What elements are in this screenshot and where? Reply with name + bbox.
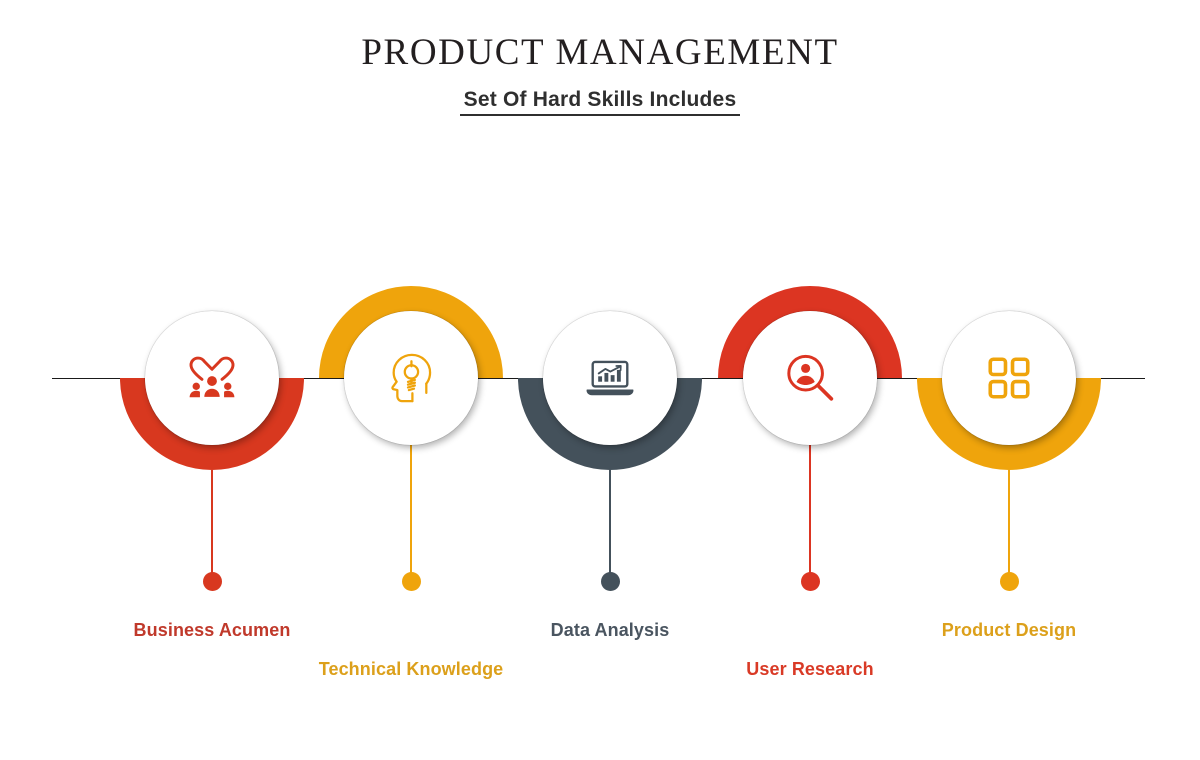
connector-line-business-acumen	[211, 470, 213, 581]
connector-line-product-design	[1008, 470, 1010, 581]
node-product-design[interactable]	[917, 286, 1101, 470]
person-magnifier-icon	[781, 349, 839, 407]
node-disc-business-acumen[interactable]	[145, 311, 279, 445]
node-label-product-design: Product Design	[942, 620, 1076, 641]
page-title: PRODUCT MANAGEMENT	[0, 31, 1200, 74]
node-disc-product-design[interactable]	[942, 311, 1076, 445]
node-label-user-research: User Research	[746, 659, 873, 680]
head-lightbulb-icon	[382, 349, 440, 407]
node-data-analysis[interactable]	[518, 286, 702, 470]
node-disc-technical-knowledge[interactable]	[344, 311, 478, 445]
page-subtitle: Set Of Hard Skills Includes	[460, 88, 741, 116]
laptop-chart-icon	[581, 349, 639, 407]
connector-dot-user-research	[801, 572, 820, 591]
connector-dot-technical-knowledge	[402, 572, 421, 591]
subtitle-container: Set Of Hard Skills Includes	[0, 88, 1200, 116]
node-label-data-analysis: Data Analysis	[551, 620, 670, 641]
node-label-business-acumen: Business Acumen	[134, 620, 291, 641]
team-heart-icon	[183, 349, 241, 407]
node-label-technical-knowledge: Technical Knowledge	[319, 659, 504, 680]
node-disc-user-research[interactable]	[743, 311, 877, 445]
node-technical-knowledge[interactable]	[319, 286, 503, 470]
connector-dot-data-analysis	[601, 572, 620, 591]
node-user-research[interactable]	[718, 286, 902, 470]
node-disc-data-analysis[interactable]	[543, 311, 677, 445]
infographic-canvas: PRODUCT MANAGEMENT Set Of Hard Skills In…	[0, 0, 1200, 760]
node-business-acumen[interactable]	[120, 286, 304, 470]
connector-dot-business-acumen	[203, 572, 222, 591]
connector-dot-product-design	[1000, 572, 1019, 591]
grid-squares-icon	[980, 349, 1038, 407]
connector-line-data-analysis	[609, 470, 611, 581]
